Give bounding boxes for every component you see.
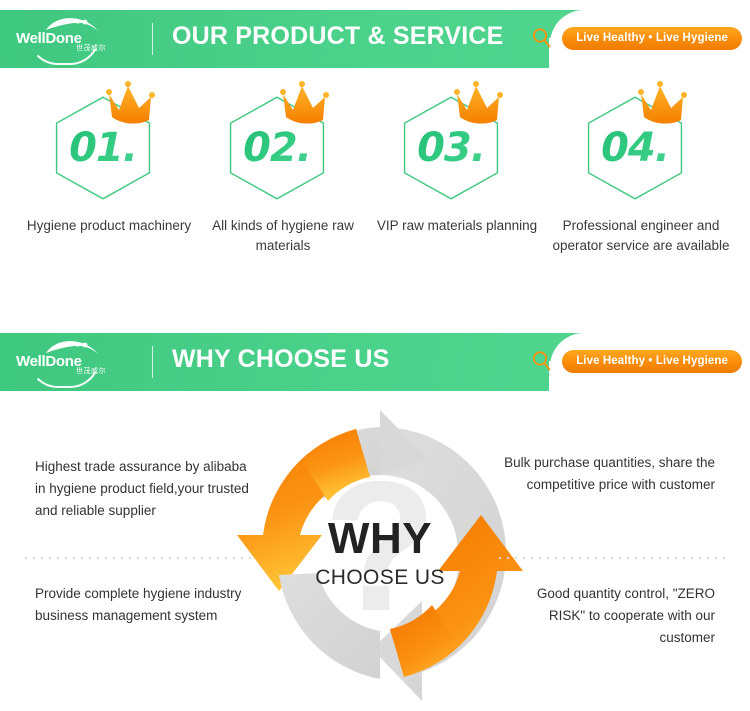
logo-welldone[interactable]: WellDone 世茂威尔 xyxy=(14,15,134,63)
why-choose-us-section: ? WHY CHOOSE US Highest trade assurance … xyxy=(0,400,750,711)
why-point-bottom-left: Provide complete hygiene industry busine… xyxy=(35,583,250,627)
divider-dotted-right xyxy=(496,557,728,559)
logo-welldone[interactable]: WellDone 世茂威尔 xyxy=(14,338,134,386)
why-point-top-left: Highest trade assurance by alibaba in hy… xyxy=(35,456,250,522)
product-card-label: All kinds of hygiene raw materials xyxy=(193,216,373,256)
banner-our-product: WellDone 世茂威尔 OUR PRODUCT & SERVICE Live… xyxy=(0,10,750,68)
slogan-badge-group: Live Healthy • Live Hygiene xyxy=(530,346,742,376)
banner-title-products: OUR PRODUCT & SERVICE xyxy=(172,22,504,51)
hex-badge: 01. xyxy=(49,80,169,202)
cycle-diagram: ? xyxy=(232,405,528,701)
product-card-label: Professional engineer and operator servi… xyxy=(551,216,731,256)
logo-wordmark: WellDone xyxy=(16,353,82,370)
why-point-top-right: Bulk purchase quantities, share the comp… xyxy=(500,452,715,496)
hex-badge: 04. xyxy=(581,80,701,202)
page-root: WellDone 世茂威尔 OUR PRODUCT & SERVICE Live… xyxy=(0,0,750,711)
magnifier-icon[interactable] xyxy=(530,349,554,373)
logo-chinese-name: 世茂威尔 xyxy=(76,43,106,53)
banner-divider xyxy=(152,23,153,55)
banner-why-choose-us: WellDone 世茂威尔 WHY CHOOSE US Live Healthy… xyxy=(0,333,750,391)
divider-dotted-left xyxy=(22,557,254,559)
product-card-label: Hygiene product machinery xyxy=(19,216,199,236)
slogan-badge-group: Live Healthy • Live Hygiene xyxy=(530,23,742,53)
crown-icon xyxy=(101,80,163,130)
slogan-badge[interactable]: Live Healthy • Live Hygiene xyxy=(562,27,742,50)
slogan-badge[interactable]: Live Healthy • Live Hygiene xyxy=(562,350,742,373)
magnifier-icon[interactable] xyxy=(530,26,554,50)
product-card[interactable]: 03. VIP raw materials planning xyxy=(370,80,544,280)
product-card-list: 01. Hygiene product machinery 02. xyxy=(0,80,750,280)
product-card[interactable]: 04. Professional engineer and operator s… xyxy=(546,80,736,280)
product-card-label: VIP raw materials planning xyxy=(367,216,547,236)
crown-icon xyxy=(633,80,695,130)
banner-title-why: WHY CHOOSE US xyxy=(172,345,389,374)
product-card[interactable]: 02. All kinds of hygiene raw materials xyxy=(196,80,370,280)
hex-badge: 02. xyxy=(223,80,343,202)
hex-badge: 03. xyxy=(397,80,517,202)
crown-icon xyxy=(275,80,337,130)
logo-chinese-name: 世茂威尔 xyxy=(76,366,106,376)
product-card[interactable]: 01. Hygiene product machinery xyxy=(22,80,196,280)
crown-icon xyxy=(449,80,511,130)
logo-wordmark: WellDone xyxy=(16,30,82,47)
why-point-bottom-right: Good quantity control, "ZERO RISK" to co… xyxy=(500,583,715,649)
banner-divider xyxy=(152,346,153,378)
